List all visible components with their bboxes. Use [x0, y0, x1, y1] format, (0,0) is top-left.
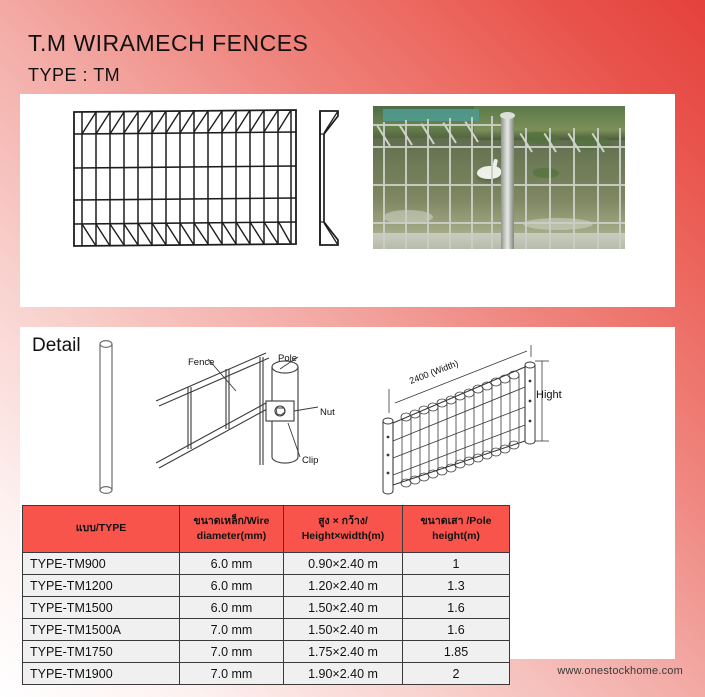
- table-row: TYPE-TM19007.0 mm1.90×2.40 m2: [23, 663, 510, 685]
- cell-size: 1.20×2.40 m: [284, 575, 403, 597]
- cell-type: TYPE-TM1200: [23, 575, 180, 597]
- cell-size: 1.90×2.40 m: [284, 663, 403, 685]
- table-row: TYPE-TM9006.0 mm0.90×2.40 m1: [23, 553, 510, 575]
- photo-fence-wire: [619, 128, 621, 249]
- column-header-height-width: สูง × กว้าง/ Height×width(m): [284, 506, 403, 553]
- table-row: TYPE-TM1500A7.0 mm1.50×2.40 m1.6: [23, 619, 510, 641]
- table-body: TYPE-TM9006.0 mm0.90×2.40 m1TYPE-TM12006…: [23, 553, 510, 685]
- cell-wire: 6.0 mm: [180, 553, 284, 575]
- cell-wire: 6.0 mm: [180, 575, 284, 597]
- fence-label: Fence: [188, 357, 214, 368]
- page-title: T.M WIRAMECH FENCES: [28, 30, 308, 57]
- cell-wire: 7.0 mm: [180, 619, 284, 641]
- fence-installation-photo: [373, 106, 625, 249]
- cell-wire: 7.0 mm: [180, 663, 284, 685]
- photo-water: [373, 134, 625, 249]
- cell-type: TYPE-TM1500: [23, 597, 180, 619]
- cell-size: 0.90×2.40 m: [284, 553, 403, 575]
- clip-label: Clip: [302, 455, 318, 466]
- photo-fence-post: [501, 116, 514, 249]
- cell-wire: 6.0 mm: [180, 597, 284, 619]
- cell-type: TYPE-TM1750: [23, 641, 180, 663]
- clip-assembly-drawing: [148, 345, 348, 495]
- cell-pole: 1: [403, 553, 510, 575]
- fence-elevation-drawing: [72, 108, 302, 248]
- table-header-row: แบบ/TYPE ขนาดเหล็ก/Wire diameter(mm) สูง…: [23, 506, 510, 553]
- column-header-pole-height: ขนาดเสา /Pole height(m): [403, 506, 510, 553]
- cell-pole: 1.6: [403, 619, 510, 641]
- cell-pole: 1.6: [403, 597, 510, 619]
- table-row: TYPE-TM17507.0 mm1.75×2.40 m1.85: [23, 641, 510, 663]
- photo-teal-structure: [383, 109, 479, 121]
- cell-size: 1.50×2.40 m: [284, 597, 403, 619]
- cell-type: TYPE-TM1900: [23, 663, 180, 685]
- photo-weeds: [533, 168, 559, 178]
- fence-profile-drawing: [316, 108, 342, 248]
- photo-fence-wire: [373, 124, 503, 126]
- specification-table: แบบ/TYPE ขนาดเหล็ก/Wire diameter(mm) สูง…: [22, 505, 510, 685]
- page-subtitle: TYPE : TM: [28, 65, 120, 86]
- top-image-panel: [20, 94, 675, 307]
- cell-wire: 7.0 mm: [180, 641, 284, 663]
- photo-concrete-ledge: [373, 233, 625, 249]
- cell-pole: 2: [403, 663, 510, 685]
- cell-pole: 1.3: [403, 575, 510, 597]
- detail-heading: Detail: [32, 335, 81, 357]
- table-row: TYPE-TM12006.0 mm1.20×2.40 m1.3: [23, 575, 510, 597]
- photo-fence-wire: [491, 116, 493, 249]
- pole-drawing: [95, 337, 117, 497]
- cell-size: 1.50×2.40 m: [284, 619, 403, 641]
- cell-size: 1.75×2.40 m: [284, 641, 403, 663]
- footer-website: www.onestockhome.com: [557, 665, 683, 677]
- table-row: TYPE-TM15006.0 mm1.50×2.40 m1.6: [23, 597, 510, 619]
- cell-type: TYPE-TM900: [23, 553, 180, 575]
- photo-weeds: [523, 132, 559, 144]
- height-dimension-label: Hight: [536, 389, 562, 401]
- nut-label: Nut: [320, 407, 335, 418]
- photo-post-cap: [500, 112, 515, 119]
- photo-fence-wire: [383, 122, 385, 249]
- table-header: แบบ/TYPE ขนาดเหล็ก/Wire diameter(mm) สูง…: [23, 506, 510, 553]
- photo-fence-wire: [373, 222, 625, 224]
- column-header-type: แบบ/TYPE: [23, 506, 180, 553]
- photo-water-reflection: [523, 218, 593, 230]
- cell-type: TYPE-TM1500A: [23, 619, 180, 641]
- cell-pole: 1.85: [403, 641, 510, 663]
- photo-swan: [477, 166, 501, 179]
- detail-and-spec-panel: Detail: [20, 327, 675, 659]
- fence-isometric-drawing: [375, 345, 590, 495]
- photo-fence-wire: [373, 184, 625, 186]
- pole-label: Pole: [278, 353, 297, 364]
- slide-root: T.M WIRAMECH FENCES TYPE : TM: [0, 0, 705, 697]
- photo-fence-wire: [373, 146, 625, 148]
- column-header-wire-diameter: ขนาดเหล็ก/Wire diameter(mm): [180, 506, 284, 553]
